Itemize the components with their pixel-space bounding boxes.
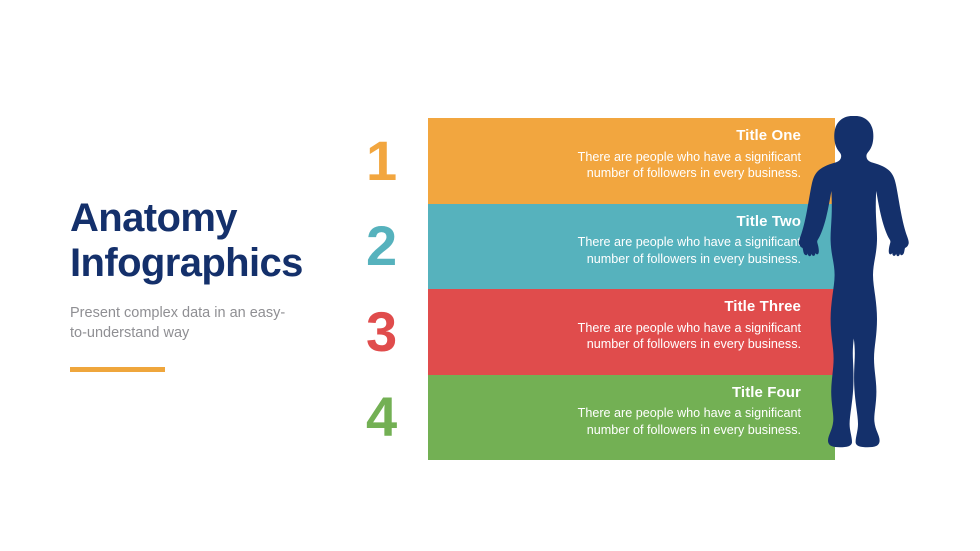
step-bar-2[interactable]: Title Two There are people who have a si… (428, 204, 835, 290)
step-bar-1-title: Title One (428, 127, 801, 146)
step-bar-4-title: Title Four (428, 384, 801, 403)
step-bar-3-title: Title Three (428, 298, 801, 317)
step-numbers-column: 1 2 3 4 (362, 118, 422, 460)
left-text-panel: Anatomy Infographics Present complex dat… (70, 196, 340, 372)
step-bar-4-description: There are people who have a significant … (428, 405, 801, 438)
page-subtitle: Present complex data in an easy- to-unde… (70, 304, 340, 343)
step-number-1: 1 (362, 118, 422, 204)
step-bar-1-description: There are people who have a significant … (428, 149, 801, 182)
step-bars-stack: Title One There are people who have a si… (428, 118, 835, 460)
step-number-4: 4 (362, 375, 422, 461)
accent-rule-divider (70, 367, 165, 372)
step-bar-1[interactable]: Title One There are people who have a si… (428, 118, 835, 204)
step-bar-2-description: There are people who have a significant … (428, 234, 801, 267)
step-bar-4[interactable]: Title Four There are people who have a s… (428, 375, 835, 461)
page-title: Anatomy Infographics (70, 196, 340, 286)
step-bar-3-description: There are people who have a significant … (428, 320, 801, 353)
step-bar-3[interactable]: Title Three There are people who have a … (428, 289, 835, 375)
step-number-2: 2 (362, 204, 422, 290)
step-number-3: 3 (362, 289, 422, 375)
infographic-slide: Anatomy Infographics Present complex dat… (0, 0, 980, 551)
step-bar-2-title: Title Two (428, 213, 801, 232)
